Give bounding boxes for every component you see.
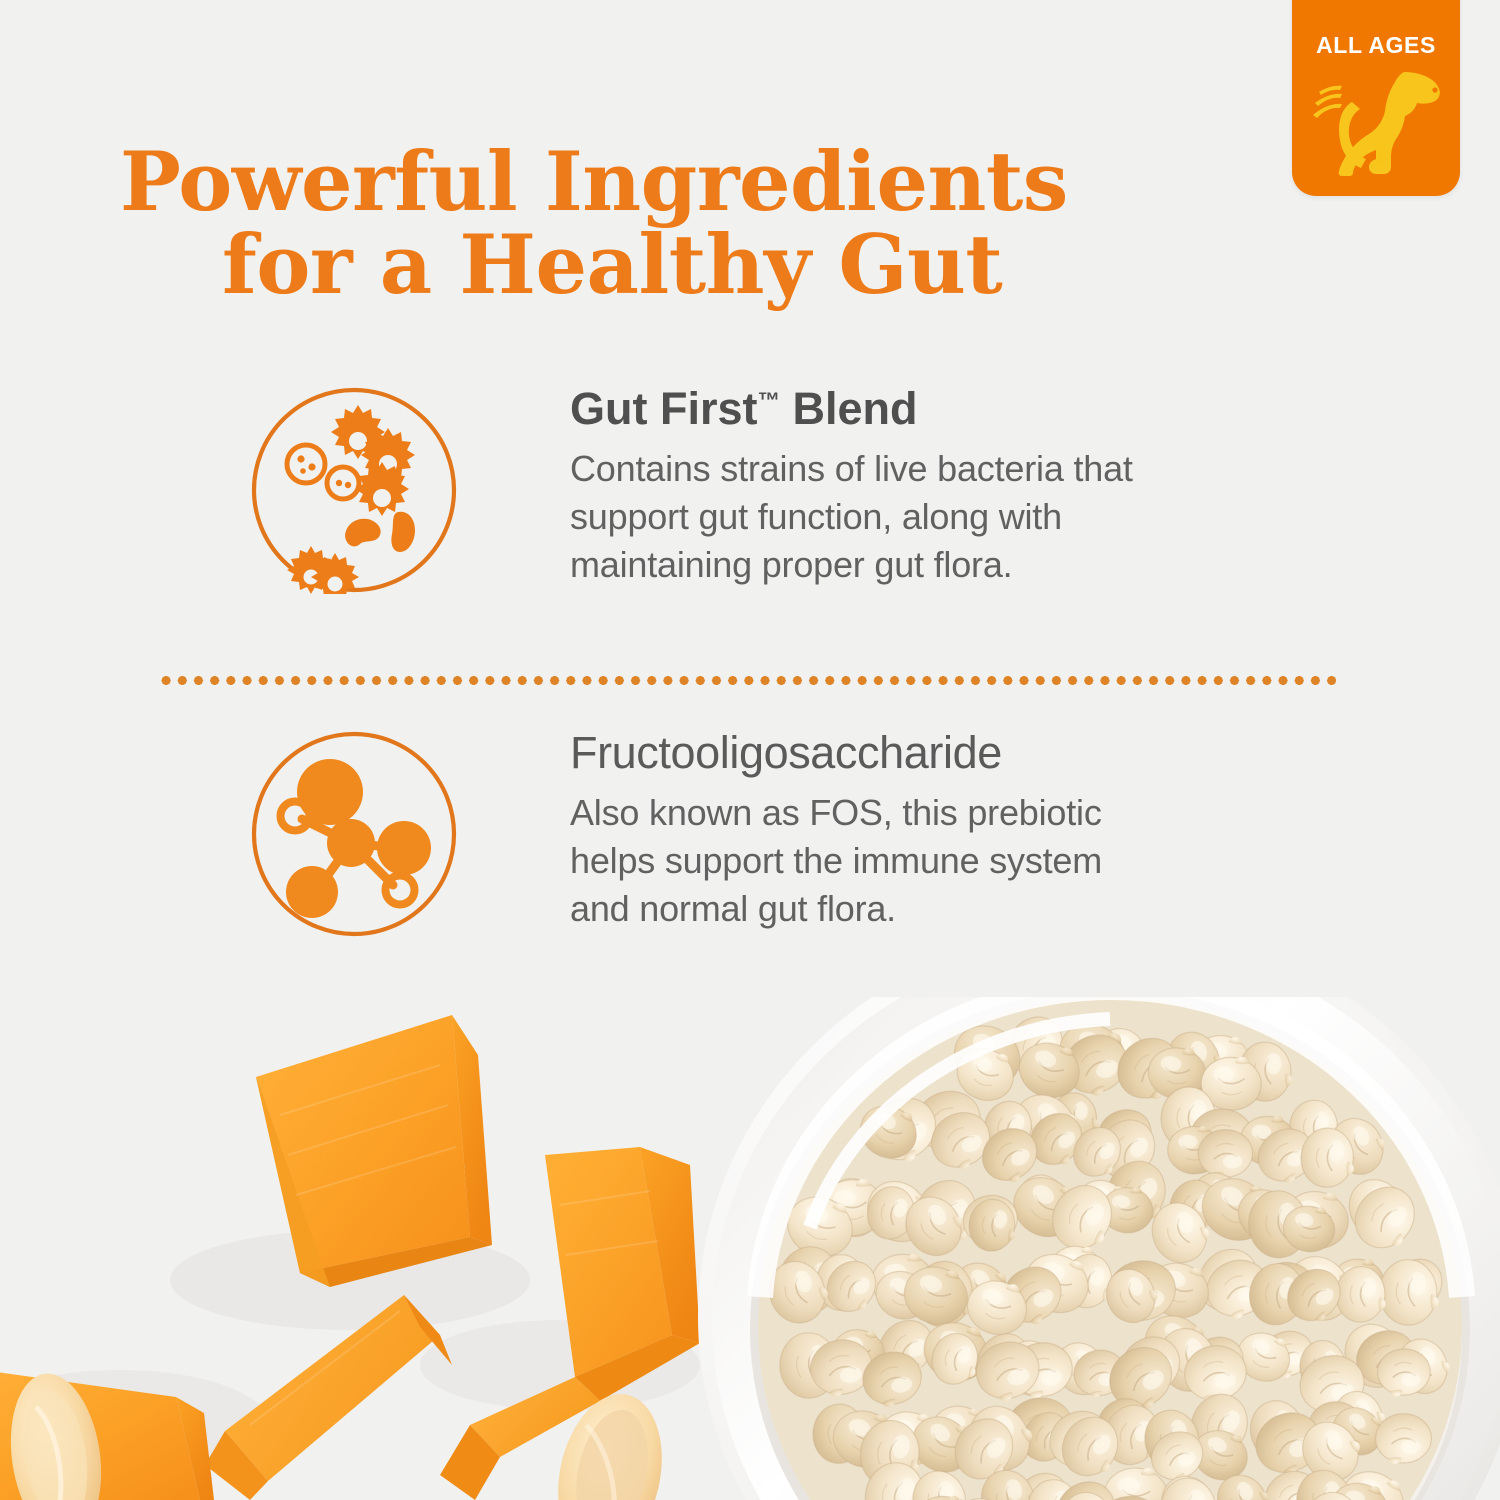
photo-band	[0, 1005, 1500, 1500]
trademark-symbol: ™	[758, 388, 781, 413]
bacteria-icon	[250, 386, 458, 594]
feature-1-text: Gut First™ Blend Contains strains of liv…	[570, 386, 1270, 589]
feature-2-body: Also known as FOS, this prebiotic helps …	[570, 789, 1270, 933]
feature-2-body-line-2: helps support the immune system	[570, 837, 1270, 885]
molecule-icon	[250, 730, 458, 938]
feature-1-body-line-3: maintaining proper gut flora.	[570, 541, 1270, 589]
feature-1-body-line-2: support gut function, along with	[570, 493, 1270, 541]
pumpkin-pieces-photo	[0, 1005, 760, 1500]
page-title: Powerful Ingredients for a Healthy Gut	[120, 142, 1240, 307]
sitting-dog-icon	[1306, 58, 1448, 184]
feature-1-heading-suffix: Blend	[780, 383, 918, 434]
infographic-canvas: ALL AGES Powerful Ingredients for a	[0, 0, 1500, 1500]
feature-2-body-line-1: Also known as FOS, this prebiotic	[570, 789, 1270, 837]
feature-1-body: Contains strains of live bacteria that s…	[570, 445, 1270, 589]
feature-2-body-line-3: and normal gut flora.	[570, 885, 1270, 933]
feature-1-heading-main: Gut First	[570, 383, 758, 434]
dotted-divider	[158, 676, 1336, 685]
all-ages-badge-label: ALL AGES	[1292, 32, 1460, 59]
page-title-line-2: for a Healthy Gut	[120, 225, 1240, 308]
feature-1-body-line-1: Contains strains of live bacteria that	[570, 445, 1270, 493]
feature-1-heading: Gut First™ Blend	[570, 386, 1270, 431]
all-ages-badge: ALL AGES	[1292, 0, 1460, 196]
chickpea-bowl-photo	[690, 997, 1500, 1500]
feature-2-text: Fructooligosaccharide Also known as FOS,…	[570, 730, 1270, 933]
page-title-line-1: Powerful Ingredients	[120, 135, 1068, 230]
feature-2-heading: Fructooligosaccharide	[570, 730, 1270, 775]
